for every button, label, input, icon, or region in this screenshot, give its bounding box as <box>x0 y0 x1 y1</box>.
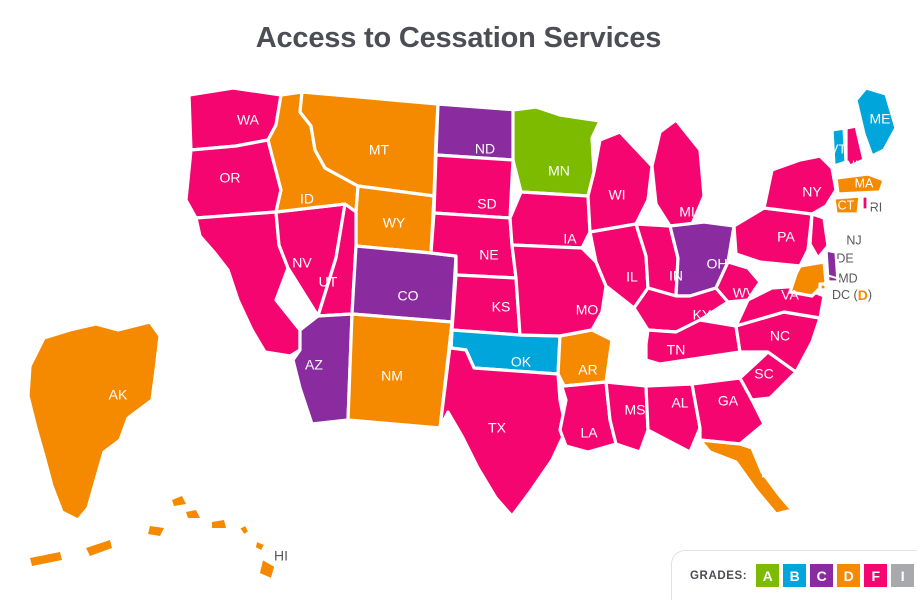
state-label-nd: ND <box>475 141 495 157</box>
state-label-ca: CA <box>201 293 221 309</box>
state-label-tn: TN <box>667 342 686 358</box>
state-label-la: LA <box>580 425 598 441</box>
state-label-oh: OH <box>707 256 728 272</box>
state-label-ga: GA <box>718 393 739 409</box>
leader-line <box>828 240 846 241</box>
state-label-ia: IA <box>563 231 577 247</box>
state-label-ut: UT <box>319 274 338 290</box>
legend-chip-d: D <box>837 564 860 587</box>
state-wi[interactable] <box>588 132 652 232</box>
state-label-ms: MS <box>625 402 646 418</box>
state-label-wa: WA <box>237 112 260 128</box>
state-label-id: ID <box>300 191 314 207</box>
state-label-al: AL <box>671 395 688 411</box>
state-fl[interactable] <box>700 440 792 514</box>
state-label-pa: PA <box>777 229 795 245</box>
state-hi[interactable] <box>238 524 276 580</box>
state-label-nj: NJ <box>846 233 861 247</box>
state-label-mn: MN <box>548 163 570 179</box>
dc-label-paren-close: ) <box>868 288 872 302</box>
state-label-ne: NE <box>479 247 498 263</box>
state-label-ri: RI <box>870 200 883 214</box>
state-label-nc: NC <box>770 328 790 344</box>
state-label-me: ME <box>870 111 891 127</box>
legend-label: GRADES: <box>690 570 747 582</box>
legend-chips: ABCDFI <box>756 564 917 587</box>
state-mn[interactable] <box>513 107 600 196</box>
state-label-mi: MI <box>679 204 695 220</box>
state-label-sd: SD <box>477 196 496 212</box>
state-mo[interactable] <box>512 245 606 336</box>
state-label-co: CO <box>398 288 419 304</box>
dc-grade-text: D <box>858 287 868 303</box>
us-choropleth-map: WAORCANVIDMTWYUTAZCONMNDSDNEKSOKTXMNIAMO… <box>0 0 917 600</box>
state-ak[interactable] <box>28 322 160 520</box>
state-label-wv: WV <box>733 285 756 301</box>
legend-chip-b: B <box>783 564 806 587</box>
state-ri[interactable] <box>862 196 868 210</box>
state-label-in: IN <box>669 268 683 284</box>
state-label-wi: WI <box>608 187 625 203</box>
state-label-hi: HI <box>274 548 288 564</box>
state-label-wy: WY <box>383 215 406 231</box>
legend-chip-c: C <box>810 564 833 587</box>
state-label-mo: MO <box>576 302 599 318</box>
state-label-ny: NY <box>802 184 822 200</box>
state-label-ak: AK <box>109 387 128 403</box>
legend-chip-f: F <box>864 564 887 587</box>
state-label-ks: KS <box>492 299 511 315</box>
dc-label-text: DC ( <box>832 288 859 302</box>
state-label-dc: DC (D) <box>832 287 872 303</box>
state-co[interactable] <box>352 246 456 322</box>
state-label-sc: SC <box>754 366 773 382</box>
state-dc[interactable] <box>820 284 826 290</box>
state-label-ok: OK <box>511 354 532 370</box>
state-label-ar: AR <box>578 362 597 378</box>
state-mi[interactable] <box>652 120 704 226</box>
legend: GRADES: ABCDFI <box>671 550 917 600</box>
state-label-mt: MT <box>369 142 390 158</box>
state-pa[interactable] <box>734 208 812 266</box>
legend-chip-i: I <box>891 564 914 587</box>
state-label-ct: CT <box>838 198 855 212</box>
states-layer <box>28 88 896 580</box>
state-ia[interactable] <box>510 192 590 248</box>
state-sd[interactable] <box>434 155 513 218</box>
legend-chip-a: A <box>756 564 779 587</box>
state-label-or: OR <box>220 170 241 186</box>
state-label-tx: TX <box>488 420 507 436</box>
state-label-md: MD <box>838 271 857 285</box>
state-label-fl: FL <box>761 465 778 481</box>
state-label-nv: NV <box>292 255 312 271</box>
state-label-ky: KY <box>693 307 712 323</box>
state-label-ma: MA <box>855 176 874 190</box>
state-label-az: AZ <box>305 357 323 373</box>
state-label-il: IL <box>626 269 638 285</box>
state-label-nh: NH <box>846 158 864 172</box>
state-label-nm: NM <box>381 368 403 384</box>
state-label-va: VA <box>781 287 799 303</box>
state-ny[interactable] <box>764 156 836 214</box>
state-label-vt: VT <box>830 142 846 156</box>
